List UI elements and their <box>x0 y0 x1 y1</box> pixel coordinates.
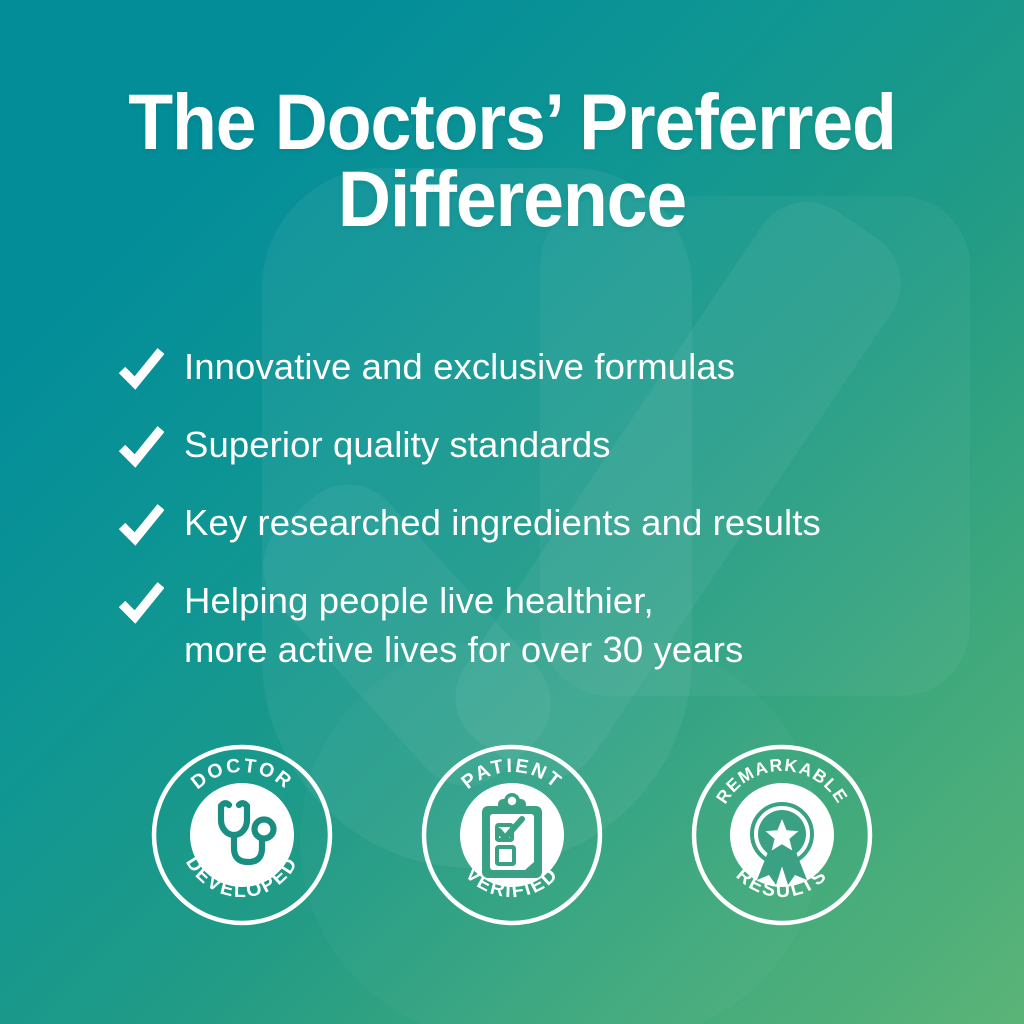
list-item-label: Key researched ingredients and results <box>184 498 821 548</box>
list-item: Key researched ingredients and results <box>118 498 978 548</box>
list-item-label: Innovative and exclusive formulas <box>184 342 735 392</box>
list-item-label: Superior quality standards <box>184 420 611 470</box>
checkmark-icon <box>118 580 164 626</box>
badge-patient-verified: PATIENT VERIFIED <box>421 744 603 926</box>
list-item: Innovative and exclusive formulas <box>118 342 978 392</box>
list-item: Superior quality standards <box>118 420 978 470</box>
checkmark-icon <box>118 502 164 548</box>
trust-badges: DOCTOR DEVELOPED <box>0 744 1024 926</box>
benefits-list: Innovative and exclusive formulas Superi… <box>118 342 978 674</box>
list-item-label: Helping people live healthier, more acti… <box>184 576 743 674</box>
promotional-poster: The Doctors’ Preferred Difference Innova… <box>0 0 1024 1024</box>
checkmark-icon <box>118 424 164 470</box>
badge-remarkable-results: REMARKABLE RESULTS <box>691 744 873 926</box>
page-title: The Doctors’ Preferred Difference <box>36 84 988 237</box>
checkmark-icon <box>118 346 164 392</box>
badge-doctor-developed: DOCTOR DEVELOPED <box>151 744 333 926</box>
headline-line-1: The Doctors’ Preferred <box>128 77 896 166</box>
list-item: Helping people live healthier, more acti… <box>118 576 978 674</box>
headline-line-2: Difference <box>36 161 988 238</box>
